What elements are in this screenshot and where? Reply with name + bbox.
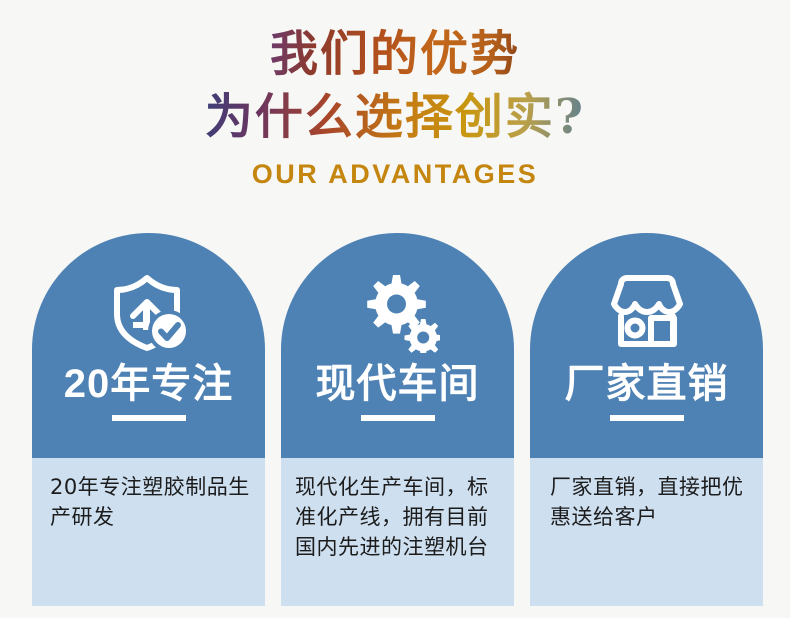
card-arch-header: 20年专注 (32, 233, 265, 458)
card-title: 厂家直销 (565, 361, 729, 407)
shield-check-icon (107, 271, 191, 355)
advantage-card-list: 20年专注 20年专注塑胶制品生产研发 (32, 233, 763, 606)
advantage-card[interactable]: 厂家直销 厂家直销，直接把优惠送给客户 (530, 233, 763, 606)
card-description: 厂家直销，直接把优惠送给客户 (530, 458, 763, 606)
page-header: 我们的优势 为什么选择创实? OUR ADVANTAGES (0, 0, 790, 212)
storefront-icon (601, 271, 693, 355)
card-description: 现代化生产车间，标准化产线，拥有目前国内先进的注塑机台 (281, 458, 514, 606)
headline-english-subtitle: OUR ADVANTAGES (252, 158, 539, 190)
card-arch-header: 现代车间 (281, 233, 514, 458)
card-title: 20年专注 (64, 361, 234, 407)
title-underline (610, 415, 684, 421)
card-arch-header: 厂家直销 (530, 233, 763, 458)
headline-primary: 我们的优势 (270, 26, 520, 82)
title-underline (361, 415, 435, 421)
card-title: 现代车间 (316, 361, 480, 407)
advantage-card[interactable]: 现代车间 现代化生产车间，标准化产线，拥有目前国内先进的注塑机台 (281, 233, 514, 606)
headline-secondary: 为什么选择创实? (205, 88, 585, 146)
advantage-card[interactable]: 20年专注 20年专注塑胶制品生产研发 (32, 233, 265, 606)
gears-icon (356, 271, 440, 355)
title-underline (112, 415, 186, 421)
card-description: 20年专注塑胶制品生产研发 (32, 458, 265, 606)
advantages-page: 我们的优势 为什么选择创实? OUR ADVANTAGES (0, 0, 790, 618)
